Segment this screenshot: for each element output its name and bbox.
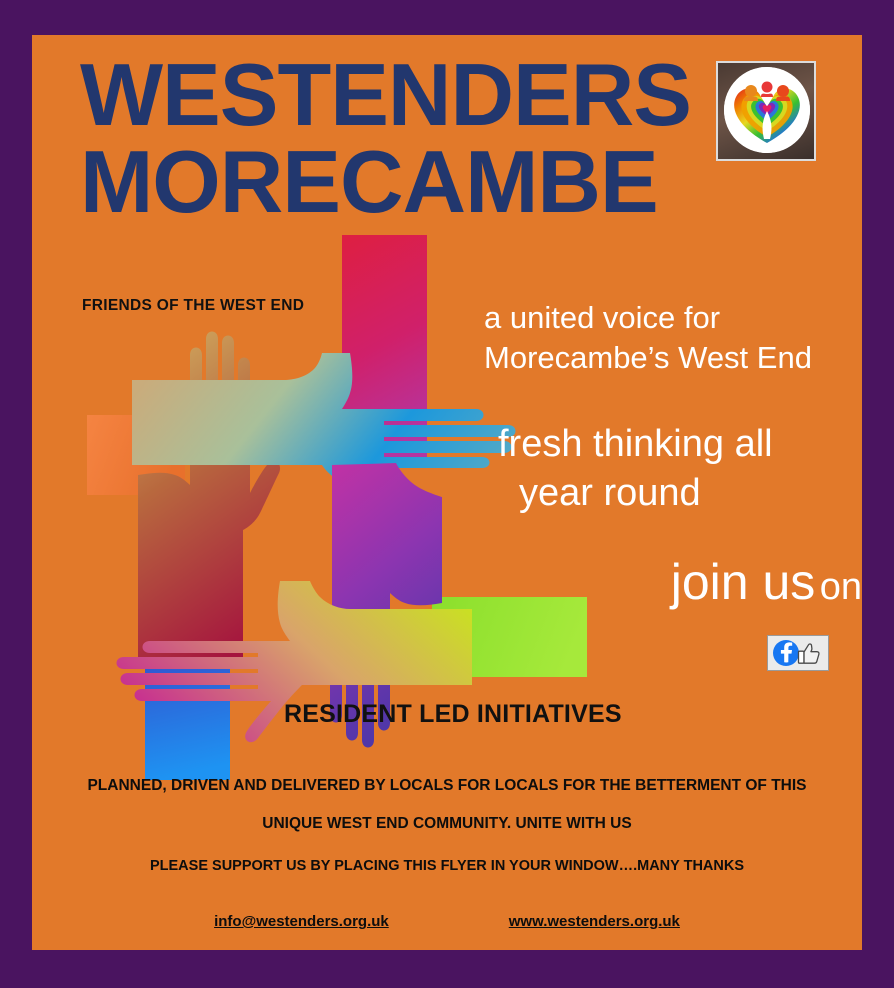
join-on-label: on [820, 566, 862, 608]
fresh-line-1: fresh thinking all [484, 420, 773, 469]
footer-line-1: PLANNED, DRIVEN AND DELIVERED BY LOCALS … [32, 777, 862, 795]
rainbow-heart-svg [724, 67, 810, 153]
organisation-logo [716, 61, 816, 161]
hand-pointing-right [132, 353, 516, 498]
footer-line-3: PLEASE SUPPORT US BY PLACING THIS FLYER … [32, 858, 862, 874]
caption-resident-led-initiatives: RESIDENT LED INITIATIVES [284, 700, 622, 729]
facebook-link[interactable] [767, 635, 829, 671]
join-us-label: join us [671, 554, 816, 610]
email-link[interactable]: info@westenders.org.uk [214, 913, 389, 930]
tagline-united-voice: a united voice for Morecambe’s West End [484, 298, 812, 377]
rainbow-heart-icon [724, 67, 810, 153]
caption-friends-of-the-west-end: FRIENDS OF THE WEST END [82, 297, 304, 315]
title-line-2: MORECAMBE [80, 138, 740, 225]
tagline-line-1: a united voice for [484, 298, 812, 338]
poster-root: WESTENDERS MORECAMBE [0, 0, 894, 988]
tagline-fresh-thinking: fresh thinking all year round [484, 420, 773, 519]
website-link[interactable]: www.westenders.org.uk [509, 913, 680, 930]
title-line-1: WESTENDERS [80, 45, 691, 144]
fresh-line-2: year round [484, 469, 773, 518]
join-us-callout: join us on [562, 553, 862, 611]
contact-links: info@westenders.org.uk www.westenders.or… [32, 913, 862, 930]
facebook-thumbsup-icon[interactable] [768, 636, 828, 670]
tagline-line-2: Morecambe’s West End [484, 338, 812, 378]
page-title: WESTENDERS MORECAMBE [80, 51, 740, 225]
footer-line-2: UNIQUE WEST END COMMUNITY. UNITE WITH US [32, 815, 862, 833]
poster-panel: WESTENDERS MORECAMBE [32, 35, 862, 950]
